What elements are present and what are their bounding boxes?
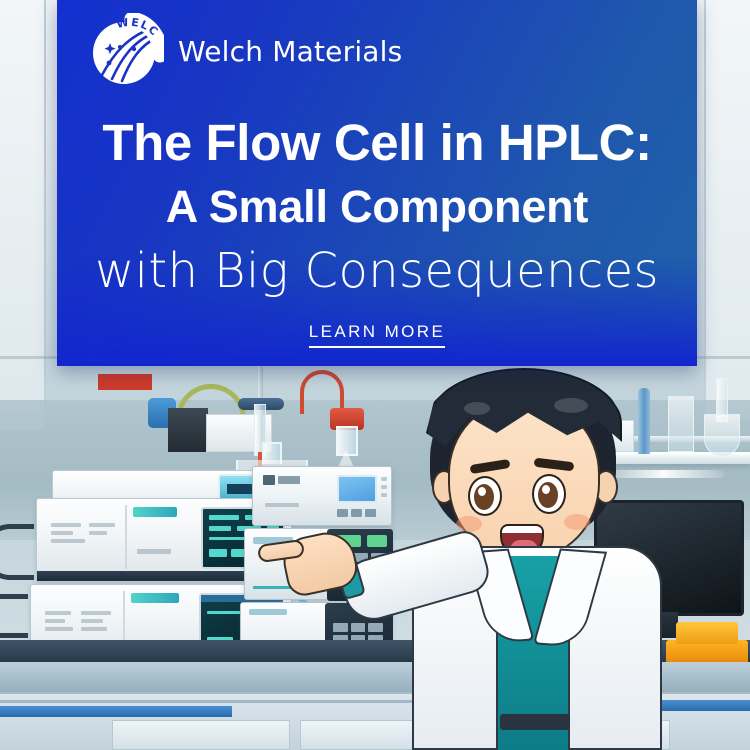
reagent-label-red [98,374,152,390]
beaker-icon [668,396,694,452]
center-module-lcd [337,475,377,503]
hair-highlight-2 [554,398,588,413]
hero-title-line-1: The Flow Cell in HPLC: [57,113,697,172]
hero-title-line-3: with Big Consequences [57,243,697,299]
welch-globe-logo-icon: WELCH [88,13,164,89]
character-belt [500,714,570,730]
pipette-tip-box-lid [676,622,738,644]
promo-banner: WELCH Welch Materials The Flow Cell in H… [0,0,750,750]
wall-panel-left [0,0,46,430]
hero-panel: WELCH Welch Materials The Flow Cell in H… [57,0,697,366]
learn-more-cta[interactable]: LEARN MORE [57,322,697,348]
character-blush-right [564,514,590,530]
volumetric-flask-icon [704,378,738,454]
brand-lockup[interactable]: WELCH Welch Materials [88,13,402,89]
character-blush-left [456,516,482,532]
brand-name: Welch Materials [178,35,402,68]
cabinet-drawer-1 [112,720,290,750]
hero-title-line-2: A Small Component [57,181,697,233]
hair-highlight-1 [464,402,490,415]
character-pupil-left [474,484,494,510]
solvent-tubing-left-2 [0,594,28,638]
dark-module-top [168,408,208,452]
character-pupil-right [538,482,558,508]
lab-technician-character [404,366,664,750]
learn-more-label[interactable]: LEARN MORE [309,322,445,348]
center-module-top [252,466,392,526]
solvent-tubing-left [0,524,34,580]
cabinet-accent-left [0,706,232,717]
